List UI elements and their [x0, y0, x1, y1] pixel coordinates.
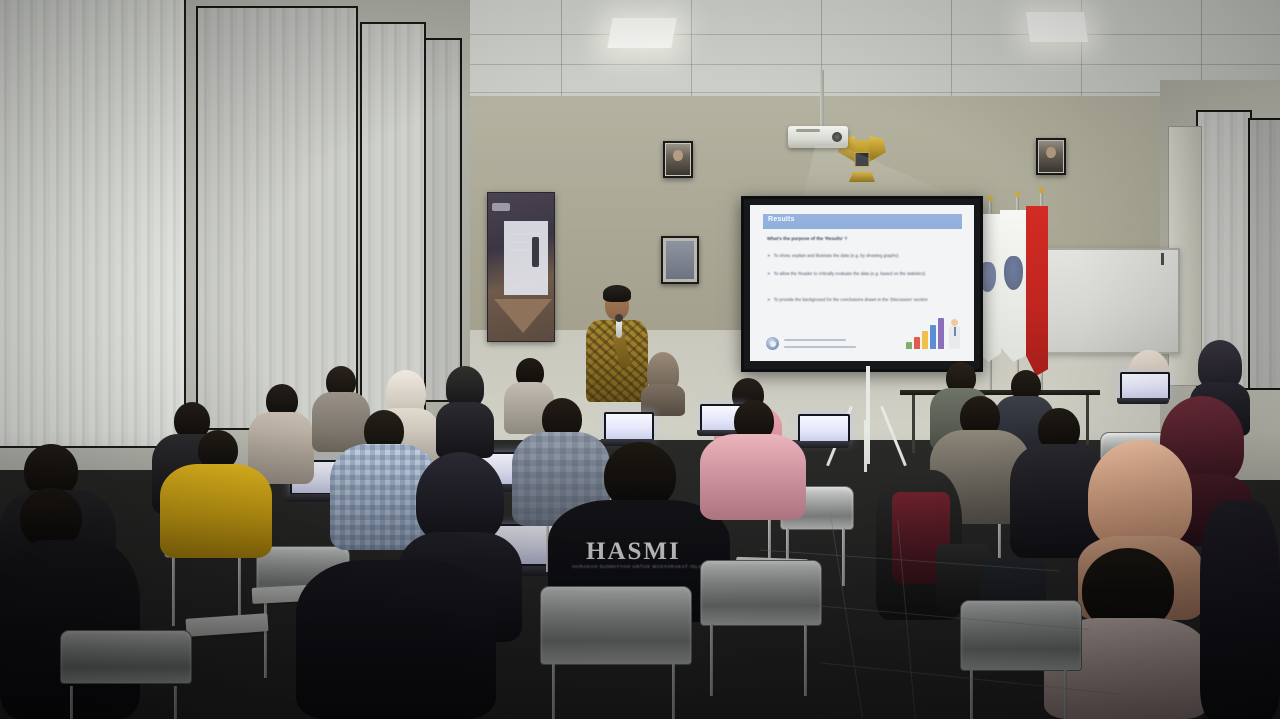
slide-title: Results [768, 216, 795, 223]
chart-person-icon [949, 319, 960, 349]
ceiling-light-panel [607, 18, 676, 48]
wall-poster [487, 192, 555, 342]
slide-bullet: ➤To provide the background for the concl… [767, 297, 965, 304]
ceiling-light-panel [1026, 12, 1088, 42]
window-blinds [1248, 118, 1280, 390]
indonesia-flag [1026, 206, 1048, 376]
projector-lens-icon [832, 132, 842, 142]
certificate-paper [666, 241, 694, 279]
attendee [641, 352, 685, 414]
chart-bar [938, 318, 944, 349]
attendee-yellow-shirt [160, 430, 272, 558]
slide-logo-icon [766, 337, 779, 350]
chart-bar [922, 331, 928, 349]
jacket-text-hasmi-sub: HARAKAH SUNNIYYAH UNTUK MASYARAKAT ISLAM… [566, 564, 714, 569]
slide-title-bar: Results [763, 214, 962, 229]
seminar-room-photo: Results What's the purpose of the 'Resul… [0, 0, 1280, 719]
window-blinds [0, 0, 186, 448]
chair[interactable] [960, 600, 1080, 719]
certificate-frame [661, 236, 699, 284]
chair[interactable] [60, 630, 190, 719]
projection-screen: Results What's the purpose of the 'Resul… [741, 196, 983, 372]
laptop[interactable] [604, 412, 650, 446]
whiteboard-clip [1161, 253, 1164, 265]
screen-tripod-leg [864, 420, 867, 472]
slide-bullet-text: To show, explain and illustrate the data… [774, 253, 899, 258]
slide-question: What's the purpose of the 'Results' ? [767, 236, 847, 241]
attendee [436, 366, 494, 458]
attendee [1200, 500, 1280, 719]
presenter-hair [603, 285, 631, 302]
slide-bullet-text: To provide the background for the conclu… [774, 297, 928, 302]
chair[interactable] [700, 560, 820, 670]
slide-footer-line [784, 346, 856, 348]
chart-bar [930, 325, 936, 349]
slide-bullet: ➤To show, explain and illustrate the dat… [767, 253, 965, 260]
portrait-frame [663, 141, 693, 178]
chair[interactable] [540, 586, 690, 719]
flag-emblem-icon [1004, 256, 1023, 290]
attendee-foreground [296, 560, 496, 719]
attendee [700, 400, 806, 520]
chart-bar [914, 337, 920, 349]
portrait-image [666, 144, 690, 175]
window-blinds [360, 22, 426, 418]
slide-footer-line [784, 339, 846, 341]
presentation-slide: Results What's the purpose of the 'Resul… [750, 205, 974, 361]
microphone-head-icon [615, 314, 623, 322]
chart-bar [906, 342, 912, 349]
jacket-text-hasmi: HASMI [586, 538, 681, 566]
presenter [586, 282, 648, 402]
slide-bullet: ➤To allow the Reader to critically evalu… [767, 271, 965, 278]
portrait-image [1039, 141, 1063, 172]
window-blinds [424, 38, 462, 402]
projector [788, 126, 848, 148]
slide-bar-chart [906, 315, 962, 349]
back-table-leg [912, 395, 915, 453]
whiteboard [1044, 248, 1180, 354]
projector-mount-pole [820, 70, 824, 126]
portrait-frame [1036, 138, 1066, 175]
slide-bullet-text: To allow the Reader to critically evalua… [774, 271, 926, 276]
